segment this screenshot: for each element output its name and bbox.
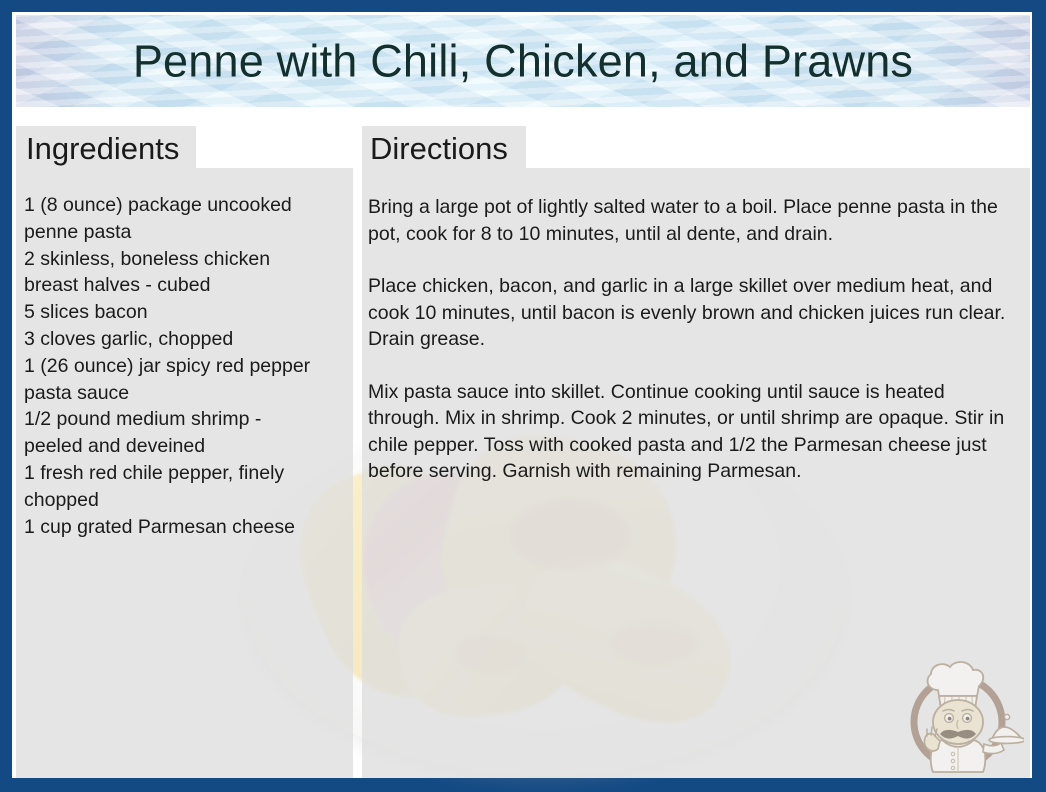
title-banner: Penne with Chili, Chicken, and Prawns: [16, 15, 1030, 107]
direction-step: Place chicken, bacon, and garlic in a la…: [368, 273, 1016, 353]
frame-border-right: [1032, 0, 1046, 792]
ingredients-list: 1 (8 ounce) package uncooked penne pasta…: [24, 192, 346, 540]
directions-heading: Directions: [370, 133, 508, 164]
ingredients-heading: Ingredients: [26, 133, 179, 164]
direction-step: Mix pasta sauce into skillet. Continue c…: [368, 379, 1016, 485]
frame-border-bottom: [0, 778, 1046, 792]
directions-steps: Bring a large pot of lightly salted wate…: [368, 194, 1016, 485]
direction-step: Bring a large pot of lightly salted wate…: [368, 194, 1016, 247]
recipe-card: Penne with Chili, Chicken, and Prawns In…: [0, 0, 1046, 792]
frame-border-top: [0, 0, 1046, 12]
frame-border-left: [0, 0, 12, 792]
recipe-title: Penne with Chili, Chicken, and Prawns: [16, 39, 1030, 84]
